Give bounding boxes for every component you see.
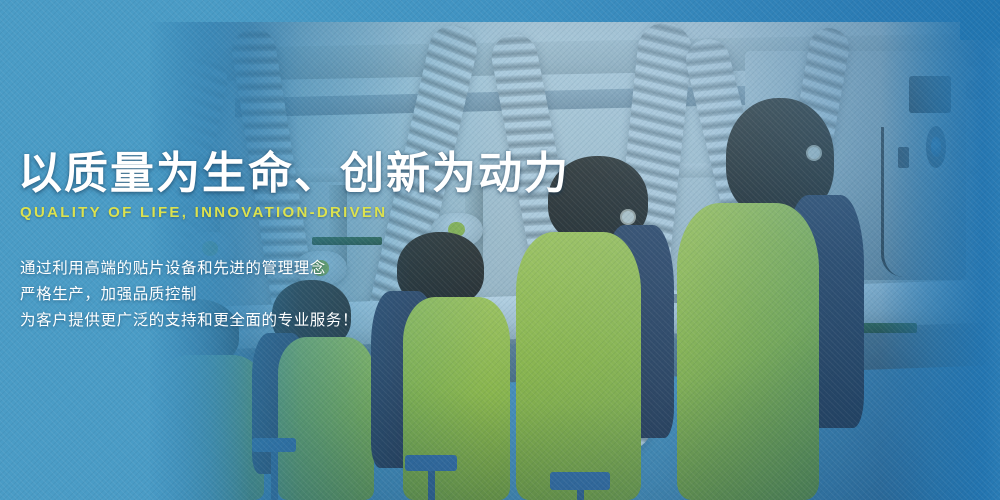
banner-tagline: QUALITY OF LIFE, INNOVATION-DRIVEN (20, 204, 387, 221)
banner-sublines: 通过利用高端的贴片设备和先进的管理理念 严格生产，加强品质控制 为客户提供更广泛… (20, 256, 358, 334)
banner-copy: 以质量为生命、创新为动力 QUALITY OF LIFE, INNOVATION… (18, 0, 958, 500)
banner-headline: 以质量为生命、创新为动力 (18, 152, 570, 196)
subline: 严格生产，加强品质控制 (20, 282, 358, 308)
subline: 为客户提供更广泛的支持和更全面的专业服务！ (20, 308, 358, 334)
corner-inner-shade (974, 22, 1000, 48)
subline: 通过利用高端的贴片设备和先进的管理理念 (20, 256, 358, 282)
hero-banner: 以质量为生命、创新为动力 QUALITY OF LIFE, INNOVATION… (0, 0, 1000, 500)
